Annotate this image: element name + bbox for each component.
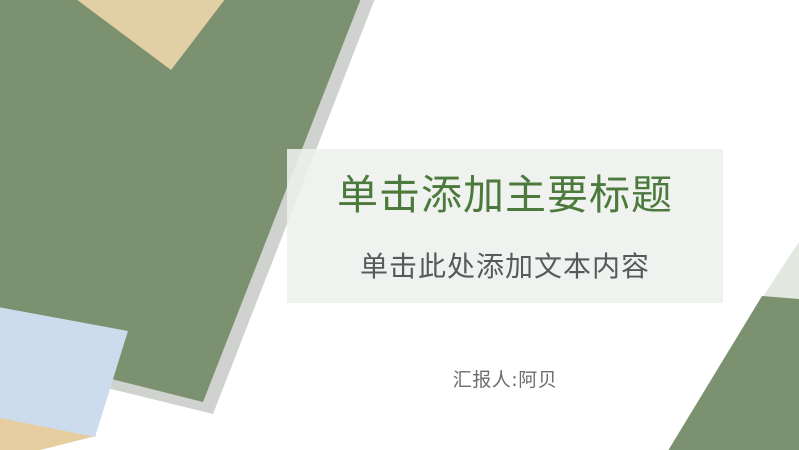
slide-subtitle: 单击此处添加文本内容 bbox=[287, 248, 723, 286]
slide-title: 单击添加主要标题 bbox=[287, 170, 723, 220]
slide-canvas: 单击添加主要标题 单击此处添加文本内容 汇报人:阿贝 bbox=[0, 0, 799, 450]
tan-top-wedge-shape bbox=[64, 0, 232, 70]
tan-bottom-left-wedge-shape bbox=[0, 320, 96, 450]
blue-bottom-left-wedge-shape bbox=[0, 300, 128, 437]
presenter-line: 汇报人:阿贝 bbox=[287, 367, 723, 393]
